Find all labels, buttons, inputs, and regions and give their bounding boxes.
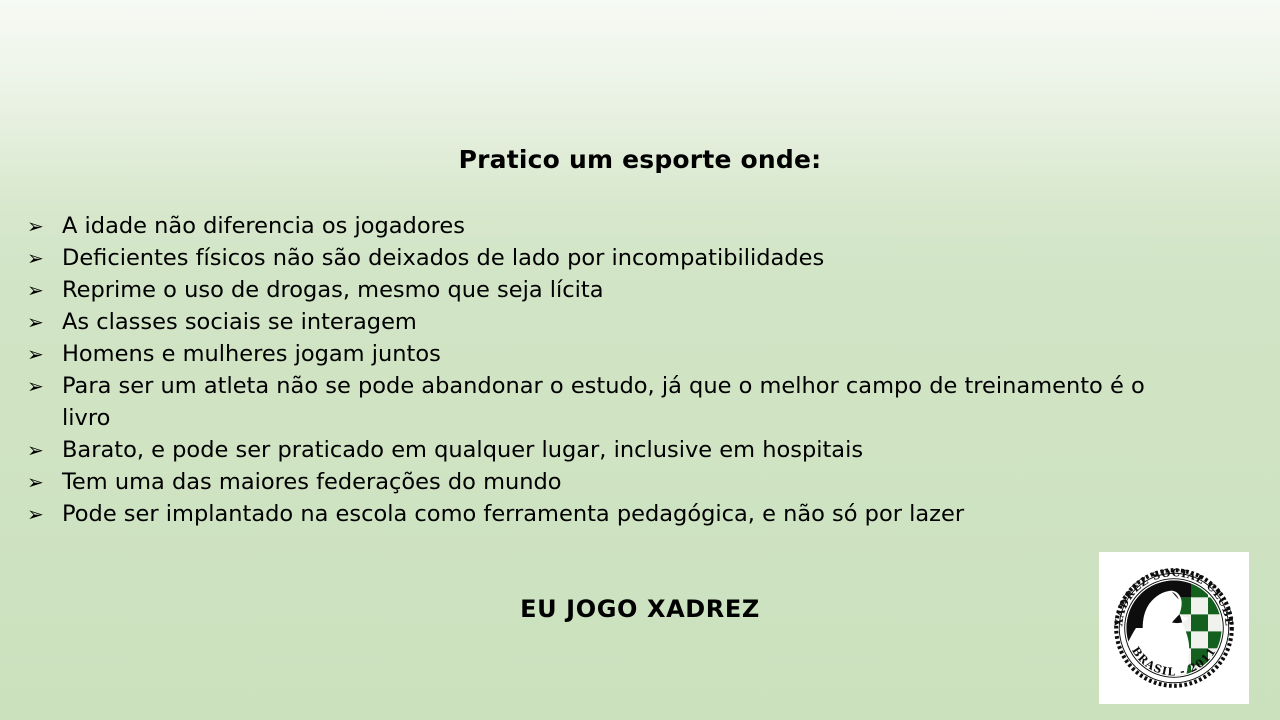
- list-item: ➢ Deficientes físicos não são deixados d…: [27, 242, 1207, 274]
- list-item: ➢ A idade não diferencia os jogadores: [27, 210, 1207, 242]
- arrow-bullet-icon: ➢: [27, 370, 62, 402]
- list-item: ➢ Para ser um atleta não se pode abandon…: [27, 370, 1207, 434]
- list-item: ➢ Barato, e pode ser praticado em qualqu…: [27, 434, 1207, 466]
- closing-statement: EU JOGO XADREZ: [0, 595, 1280, 623]
- slide-canvas: Pratico um esporte onde: ➢ A idade não d…: [0, 0, 1280, 720]
- list-item-label: Reprime o uso de drogas, mesmo que seja …: [62, 274, 1167, 306]
- arrow-bullet-icon: ➢: [27, 434, 62, 466]
- arrow-bullet-icon: ➢: [27, 274, 62, 306]
- list-item-label: Homens e mulheres jogam juntos: [62, 338, 1167, 370]
- list-item: ➢ Tem uma das maiores federações do mund…: [27, 466, 1207, 498]
- arrow-bullet-icon: ➢: [27, 306, 62, 338]
- list-item-label: As classes sociais se interagem: [62, 306, 1167, 338]
- list-item-label: Para ser um atleta não se pode abandonar…: [62, 370, 1167, 434]
- arrow-bullet-icon: ➢: [27, 338, 62, 370]
- arrow-bullet-icon: ➢: [27, 498, 62, 530]
- logo-card: XADREZ SOCIAL CLUBE BRASIL - 2011 XADREZ…: [1099, 552, 1249, 704]
- list-item-label: Tem uma das maiores federações do mundo: [62, 466, 1167, 498]
- list-item-label: Deficientes físicos não são deixados de …: [62, 242, 1167, 274]
- list-item-label: Barato, e pode ser praticado em qualquer…: [62, 434, 1167, 466]
- arrow-bullet-icon: ➢: [27, 210, 62, 242]
- list-item: ➢ Homens e mulheres jogam juntos: [27, 338, 1207, 370]
- arrow-bullet-icon: ➢: [27, 466, 62, 498]
- list-item: ➢ Reprime o uso de drogas, mesmo que sej…: [27, 274, 1207, 306]
- xadrez-social-clube-logo-icon: XADREZ SOCIAL CLUBE BRASIL - 2011: [1106, 560, 1242, 696]
- list-item: ➢ As classes sociais se interagem: [27, 306, 1207, 338]
- list-item-label: A idade não diferencia os jogadores: [62, 210, 1167, 242]
- bullet-list: ➢ A idade não diferencia os jogadores ➢ …: [27, 210, 1207, 530]
- list-item-label: Pode ser implantado na escola como ferra…: [62, 498, 1167, 530]
- page-title: Pratico um esporte onde:: [0, 145, 1280, 174]
- arrow-bullet-icon: ➢: [27, 242, 62, 274]
- list-item: ➢ Pode ser implantado na escola como fer…: [27, 498, 1207, 530]
